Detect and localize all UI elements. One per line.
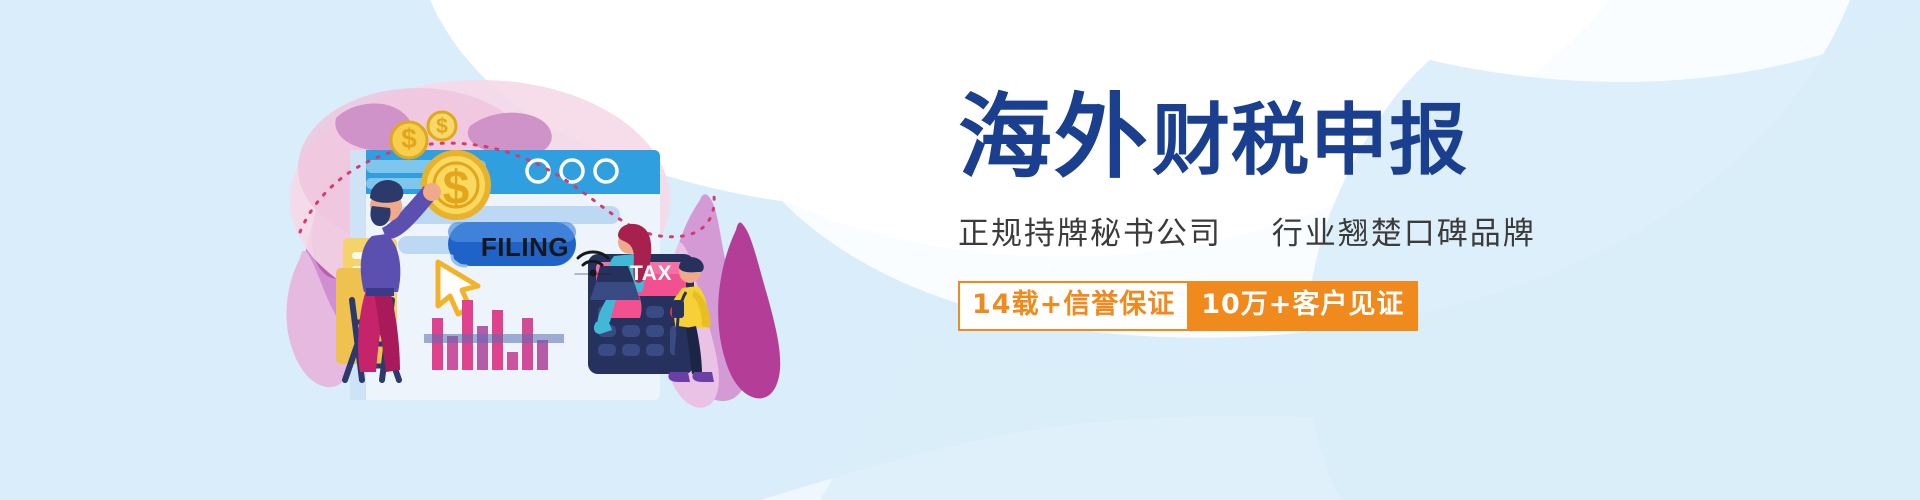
- subtitle-right: 行业翘楚口碑品牌: [1272, 216, 1536, 252]
- badge-experience: 14载+信誉保证: [958, 281, 1187, 331]
- promo-banner: FILING TAX $ $ $ 海外 财税申报 正规持牌秘书公司 行业翘楚口碑…: [0, 0, 1920, 500]
- headline: 海外 财税申报: [958, 76, 1718, 184]
- headline-primary: 海外: [958, 92, 1150, 184]
- subtitle-left: 正规持牌秘书公司: [958, 216, 1222, 252]
- copy-block: 海外 财税申报 正规持牌秘书公司 行业翘楚口碑品牌 14载+信誉保证 10万+客…: [958, 76, 1718, 436]
- filing-button: [448, 222, 576, 266]
- headline-secondary: 财税申报: [1152, 102, 1468, 184]
- badge-row: 14载+信誉保证 10万+客户见证: [958, 281, 1718, 331]
- subtitle: 正规持牌秘书公司 行业翘楚口碑品牌: [958, 208, 1718, 253]
- badge-clients: 10万+客户见证: [1187, 281, 1418, 331]
